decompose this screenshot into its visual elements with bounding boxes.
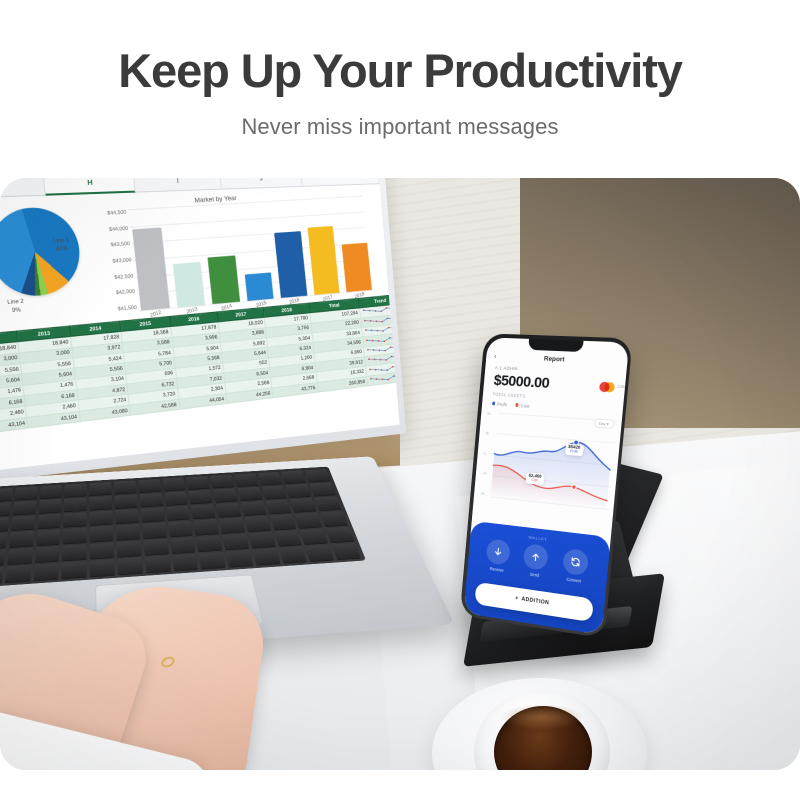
keyboard-key[interactable]	[145, 556, 171, 573]
arrow-up-icon	[523, 543, 549, 571]
keyboard-key[interactable]	[90, 559, 115, 576]
keyboard-key[interactable]	[37, 514, 61, 529]
keyboard-key[interactable]	[117, 557, 142, 574]
keyboard-key[interactable]	[33, 563, 59, 581]
keyboard-key[interactable]	[35, 546, 60, 563]
keyboard-key[interactable]	[332, 543, 361, 560]
bar-y-tick: $41,500	[100, 305, 137, 314]
balance-amount: $5000.00	[493, 372, 550, 392]
keyboard-key[interactable]	[139, 493, 162, 507]
phone-notch	[528, 338, 583, 351]
app-title: Report	[544, 355, 565, 363]
header: Keep Up Your Productivity Never miss imp…	[0, 0, 800, 178]
tooltip-profit: $5420 Profit	[565, 443, 584, 456]
keyboard-key[interactable]	[244, 516, 270, 531]
keyboard-key[interactable]	[63, 512, 86, 527]
card-label: 2384	[617, 384, 626, 389]
keyboard-key[interactable]	[172, 554, 198, 571]
keyboard-key[interactable]	[143, 539, 168, 555]
legend-dot-profit	[492, 402, 495, 406]
keyboard-key[interactable]	[216, 503, 241, 518]
arrow-down-icon	[486, 538, 511, 565]
page-title: Keep Up Your Productivity	[118, 46, 682, 95]
keyboard-key[interactable]	[295, 513, 322, 528]
keyboard-key[interactable]	[63, 528, 87, 544]
keyboard-key[interactable]	[114, 494, 137, 508]
keyboard-key[interactable]	[326, 527, 354, 543]
refresh-icon	[562, 547, 589, 575]
line-chart[interactable]: 5k3k0-1k-3k Day ▾	[473, 409, 622, 517]
mastercard-yellow-circle	[604, 381, 615, 392]
keyboard-key[interactable]	[142, 523, 167, 539]
wallet-panel: WALLET Receive	[463, 520, 610, 634]
action-receive-label: Receive	[485, 565, 509, 573]
table-body: 18,84018,84017,82818,36817,87818,02017,7…	[0, 304, 400, 435]
action-send-label: Send	[522, 570, 546, 578]
keyboard-key[interactable]	[170, 537, 196, 553]
keyboard-key[interactable]	[320, 511, 348, 526]
bar-y-tick: $44,500	[89, 209, 126, 217]
bar	[342, 243, 372, 292]
keyboard-key[interactable]	[210, 475, 234, 488]
pie-label-line1: Line 1 41%	[53, 238, 70, 254]
action-convert[interactable]: Convert	[561, 547, 589, 583]
keyboard-key[interactable]	[115, 509, 139, 524]
laptop-screen: G H I J K Line 1 41% Lin	[0, 178, 400, 472]
bar-y-tick: $42,000	[98, 289, 135, 298]
bar	[274, 232, 307, 298]
keyboard-key[interactable]	[7, 548, 33, 565]
keyboard-key[interactable]	[310, 482, 336, 496]
keyboard-key[interactable]	[39, 485, 62, 499]
product-banner: Keep Up Your Productivity Never miss imp…	[0, 0, 800, 800]
pie-label-line2-value: 9%	[12, 307, 21, 314]
keyboard-key[interactable]	[90, 526, 114, 542]
keyboard-key[interactable]	[274, 530, 301, 546]
keyboard-key[interactable]	[116, 524, 140, 540]
keyboard-key[interactable]	[286, 484, 312, 498]
bar	[307, 226, 339, 295]
keyboard-key[interactable]	[234, 473, 258, 486]
pie-label-line2-name: Line 2	[7, 299, 24, 306]
keyboard-key[interactable]	[89, 496, 112, 510]
keyboard-key[interactable]	[9, 531, 34, 547]
column-header-i[interactable]: I	[134, 178, 221, 192]
keyboard-key[interactable]	[38, 499, 61, 513]
legend-label-profit: Profit	[497, 401, 507, 407]
keyboard-key[interactable]	[186, 476, 210, 489]
keyboard-key[interactable]	[11, 516, 36, 531]
keyboard-key[interactable]	[64, 483, 86, 497]
keyboard-key[interactable]	[62, 561, 87, 578]
chevron-left-icon[interactable]: ‹	[494, 353, 497, 360]
phone-screen[interactable]: ‹ Report A.1 ADHIK $5000.00 2384	[463, 337, 629, 635]
keyboard-key[interactable]	[116, 540, 141, 556]
keyboard-key[interactable]	[191, 504, 216, 519]
keyboard-key[interactable]	[199, 552, 226, 569]
keyboard-key[interactable]	[270, 514, 297, 529]
keyboard-key[interactable]	[0, 502, 11, 517]
bar-y-tick: $42,500	[96, 273, 133, 282]
keyboard-key[interactable]	[237, 487, 262, 501]
spreadsheet-table: 2012201320142015201620172018TotalTrend 1…	[0, 295, 400, 472]
keyboard-key[interactable]	[0, 517, 9, 532]
keyboard-key[interactable]	[266, 500, 292, 514]
keyboard-key[interactable]	[14, 486, 37, 500]
keyboard-key[interactable]	[305, 469, 330, 482]
keyboard-key[interactable]	[300, 528, 328, 544]
keyboard-key[interactable]	[12, 501, 36, 515]
addition-button[interactable]: + ADDITION	[474, 581, 593, 621]
pie-chart: Line 1 41% Line 2 9%	[0, 200, 93, 324]
laptop-screen-shell: G H I J K Line 1 41% Lin	[0, 178, 406, 484]
bar-y-tick: $43,000	[95, 257, 132, 266]
app-body: A.1 ADHIK $5000.00 2384 TOTAL ASSETS	[473, 364, 626, 517]
keyboard-key[interactable]	[90, 542, 114, 558]
keyboard-key[interactable]	[62, 544, 86, 561]
column-header-h[interactable]: H	[44, 178, 136, 196]
smartphone: ‹ Report A.1 ADHIK $5000.00 2384	[460, 333, 633, 638]
keyboard-key[interactable]	[252, 548, 280, 565]
table-cell: 43,104	[0, 417, 28, 434]
keyboard-key[interactable]	[262, 485, 287, 499]
keyboard-key[interactable]	[281, 470, 306, 483]
action-convert-label: Convert	[561, 575, 586, 583]
keyboard-key[interactable]	[162, 478, 185, 491]
legend-item-profit[interactable]: Profit	[492, 401, 507, 407]
line-chart-svg	[486, 410, 620, 511]
coffee-crema	[500, 704, 584, 730]
keyboard-key[interactable]	[90, 511, 113, 526]
keyboard-key[interactable]	[219, 518, 245, 533]
page-subtitle: Never miss important messages	[241, 114, 558, 140]
pie-label-line1-name: Line 1	[53, 238, 70, 245]
keyboard-key[interactable]	[0, 567, 3, 585]
keyboard-key[interactable]	[315, 497, 342, 511]
keyboard-key[interactable]	[248, 532, 275, 548]
keyboard-key[interactable]	[279, 546, 307, 563]
keyboard-key[interactable]	[114, 480, 137, 494]
addition-button-label: ADDITION	[521, 596, 549, 606]
pie-label-line2: Line 2 9%	[7, 299, 25, 316]
keyboard-key[interactable]	[0, 533, 7, 549]
legend-dot-cost	[515, 403, 518, 407]
keyboard-key[interactable]	[193, 519, 219, 534]
legend-item-cost[interactable]: Cost	[515, 402, 530, 408]
keyboard-key[interactable]	[305, 545, 334, 562]
bar	[245, 273, 274, 301]
tooltip-cost: $2,460 Cost	[525, 472, 545, 486]
pie-chart-graphic	[0, 206, 83, 298]
laptop: G H I J K Line 1 41% Lin	[0, 178, 435, 688]
action-send[interactable]: Send	[522, 543, 549, 579]
phone-with-stand: ‹ Report A.1 ADHIK $5000.00 2384	[455, 336, 685, 666]
keyboard-key[interactable]	[189, 490, 213, 504]
keyboard-key[interactable]	[64, 497, 87, 511]
keyboard-key[interactable]	[258, 472, 283, 485]
keyboard-key[interactable]	[0, 488, 13, 502]
plus-icon: +	[515, 595, 519, 601]
bar-y-tick: $44,000	[91, 225, 128, 233]
keyboard-key[interactable]	[138, 479, 161, 492]
keyboard-key[interactable]	[241, 501, 267, 516]
keyboard-key[interactable]	[0, 549, 5, 566]
keyboard-key[interactable]	[89, 482, 111, 496]
keyboard-key[interactable]	[290, 498, 316, 512]
keyboard-key[interactable]	[196, 535, 222, 551]
legend-label-cost: Cost	[521, 403, 530, 409]
keyboard-key[interactable]	[168, 521, 193, 536]
pie-label-line1-value: 41%	[56, 245, 68, 252]
keyboard[interactable]	[0, 467, 366, 588]
keyboard-key[interactable]	[164, 491, 188, 505]
column-header-g[interactable]: G	[0, 178, 46, 198]
keyboard-key[interactable]	[213, 488, 238, 502]
keyboard-key[interactable]	[222, 534, 249, 550]
bar	[208, 256, 240, 304]
action-receive[interactable]: Receive	[485, 538, 511, 573]
keyboard-key[interactable]	[140, 507, 164, 522]
mastercard-icon[interactable]: 2384	[598, 381, 615, 392]
bar-y-tick: $43,500	[93, 241, 130, 250]
keyboard-key[interactable]	[166, 506, 190, 521]
keyboard-key[interactable]	[36, 529, 61, 545]
keyboard-key[interactable]	[226, 550, 253, 567]
bar	[173, 262, 205, 307]
keyboard-key[interactable]	[5, 565, 32, 583]
product-photo: G H I J K Line 1 41% Lin	[0, 178, 800, 770]
